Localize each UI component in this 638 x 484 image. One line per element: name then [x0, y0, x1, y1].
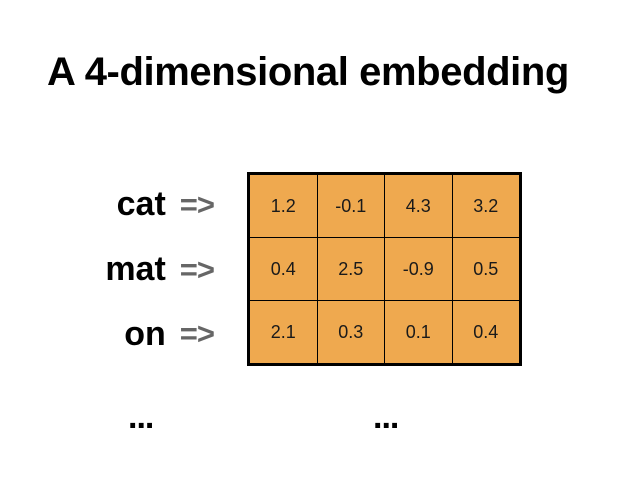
matrix-cell: 0.3 [317, 301, 385, 364]
matrix-cell: 0.5 [452, 238, 520, 301]
matrix-cell: -0.1 [317, 175, 385, 238]
matrix-cell: 4.3 [385, 175, 453, 238]
word-list-ellipsis: ... [128, 400, 153, 434]
embedding-matrix: 1.2 -0.1 4.3 3.2 0.4 2.5 -0.9 0.5 2.1 0.… [247, 172, 522, 366]
word-row-mat: mat => [0, 237, 228, 302]
matrix-cell: 0.4 [250, 238, 318, 301]
table-row: 1.2 -0.1 4.3 3.2 [250, 175, 520, 238]
arrow-icon-on: => [180, 318, 214, 349]
matrix-cell: 2.5 [317, 238, 385, 301]
word-row-cat: cat => [0, 172, 228, 237]
arrow-icon-mat: => [180, 254, 214, 285]
matrix-cell: 3.2 [452, 175, 520, 238]
matrix-cell: -0.9 [385, 238, 453, 301]
table-row: 0.4 2.5 -0.9 0.5 [250, 238, 520, 301]
word-label-cat: cat [117, 187, 166, 221]
matrix-cell: 1.2 [250, 175, 318, 238]
arrow-icon-cat: => [180, 189, 214, 220]
word-label-on: on [124, 317, 166, 351]
page-title: A 4-dimensional embedding [47, 49, 607, 95]
embedding-table: 1.2 -0.1 4.3 3.2 0.4 2.5 -0.9 0.5 2.1 0.… [249, 174, 520, 364]
matrix-cell: 0.1 [385, 301, 453, 364]
word-label-list: cat => mat => on => [0, 172, 228, 366]
matrix-ellipsis: ... [373, 400, 398, 434]
slide-canvas: A 4-dimensional embedding cat => mat => … [0, 0, 638, 484]
word-row-on: on => [0, 301, 228, 366]
table-row: 2.1 0.3 0.1 0.4 [250, 301, 520, 364]
matrix-cell: 0.4 [452, 301, 520, 364]
matrix-cell: 2.1 [250, 301, 318, 364]
word-label-mat: mat [105, 252, 165, 286]
